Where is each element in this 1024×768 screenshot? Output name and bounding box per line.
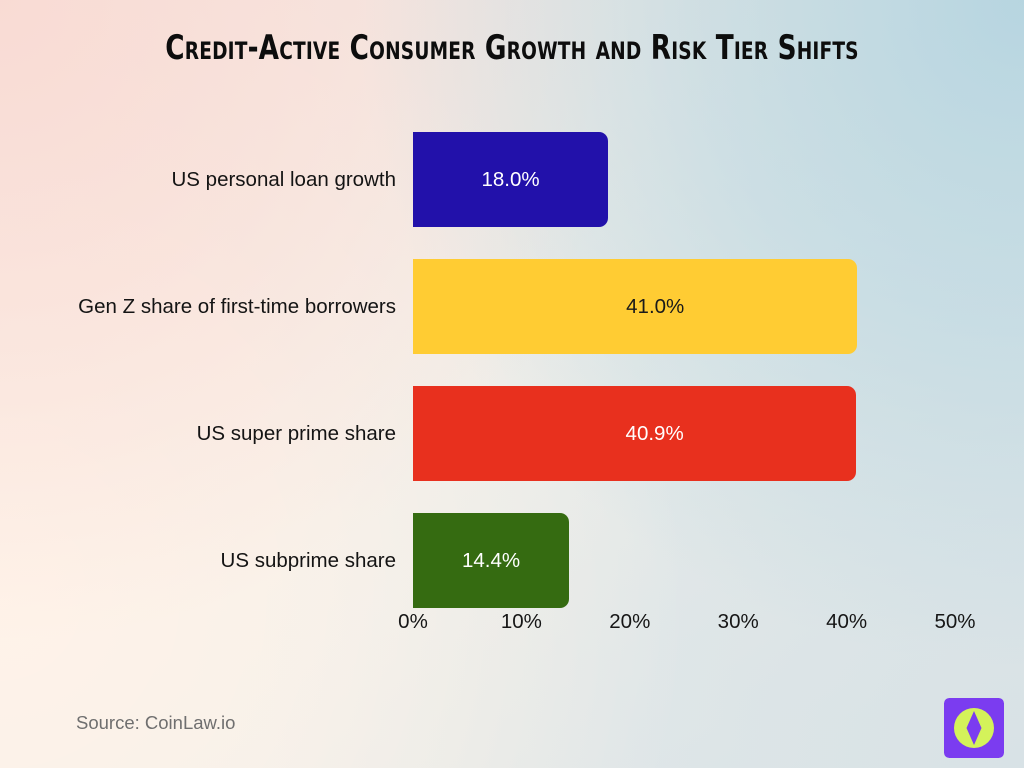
- bar-value-label: 18.0%: [481, 132, 539, 227]
- bar-row: US super prime share40.9%: [0, 386, 1024, 481]
- bar-category-label: US personal loan growth: [172, 132, 397, 227]
- bar-value-label: 40.9%: [626, 386, 684, 481]
- source-note: Source: CoinLaw.io: [76, 712, 235, 734]
- x-tick-label: 0%: [398, 610, 428, 634]
- bar-category-label: Gen Z share of first-time borrowers: [78, 259, 396, 354]
- bar-row: Gen Z share of first-time borrowers41.0%: [0, 259, 1024, 354]
- coinlaw-compass-logo-icon: [944, 698, 1004, 758]
- x-tick-label: 40%: [826, 610, 867, 634]
- bar-category-label: US super prime share: [197, 386, 396, 481]
- bar-category-label: US subprime share: [221, 513, 396, 608]
- bar-row: US personal loan growth18.0%: [0, 132, 1024, 227]
- bar-row: US subprime share14.4%: [0, 513, 1024, 608]
- x-tick-label: 20%: [609, 610, 650, 634]
- bar-chart-plot-area: US personal loan growth18.0%Gen Z share …: [0, 0, 1024, 768]
- chart-canvas: Credit-Active Consumer Growth and Risk T…: [0, 0, 1024, 768]
- x-tick-label: 50%: [934, 610, 975, 634]
- bar-value-label: 41.0%: [626, 259, 684, 354]
- x-tick-label: 30%: [718, 610, 759, 634]
- x-axis: 0%10%20%30%40%50%: [0, 610, 1024, 644]
- bar-value-label: 14.4%: [462, 513, 520, 608]
- x-tick-label: 10%: [501, 610, 542, 634]
